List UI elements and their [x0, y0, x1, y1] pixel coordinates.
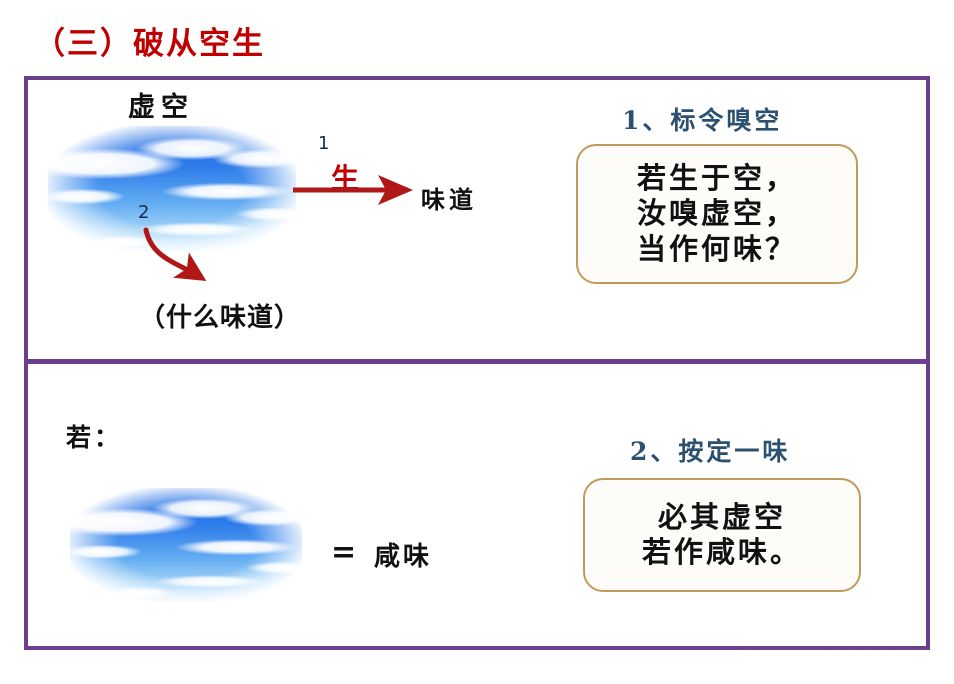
sky-clouds-image-bottom [70, 488, 302, 602]
quote-box-1: 若生于空， 汝嗅虚空， 当作何味？ [576, 144, 858, 284]
quote-line: 汝嗅虚空， [637, 196, 797, 231]
quote-line: 若作咸味。 [642, 535, 802, 570]
cloud-label-top: 虚空 [128, 85, 194, 124]
target-label-weidao: 味道 [421, 180, 477, 215]
section-heading-1: 1、标令嗅空 [622, 101, 782, 137]
quote-box-2: 必其虚空 若作咸味。 [583, 478, 861, 592]
section-heading-2: 2、按定一味 [630, 432, 790, 468]
premise-label-ruo: 若： [66, 418, 122, 454]
step-number-1: 1 [318, 133, 329, 154]
result-label-xianwei: 咸味 [374, 536, 432, 573]
quote-line: 若生于空， [637, 161, 797, 196]
relation-label-sheng: 生 [331, 157, 359, 197]
quote-line: 必其虚空 [658, 500, 786, 535]
target-label-shenme-weidao: （什么味道） [139, 297, 301, 334]
panel-divider [24, 359, 930, 364]
page-title: （三）破从空生 [34, 18, 265, 63]
sky-clouds-image [48, 126, 296, 252]
watermark: ——————————— [742, 639, 929, 657]
step-number-2: 2 [138, 202, 149, 223]
equals-symbol: = [331, 535, 356, 570]
quote-line: 当作何味？ [637, 232, 797, 267]
